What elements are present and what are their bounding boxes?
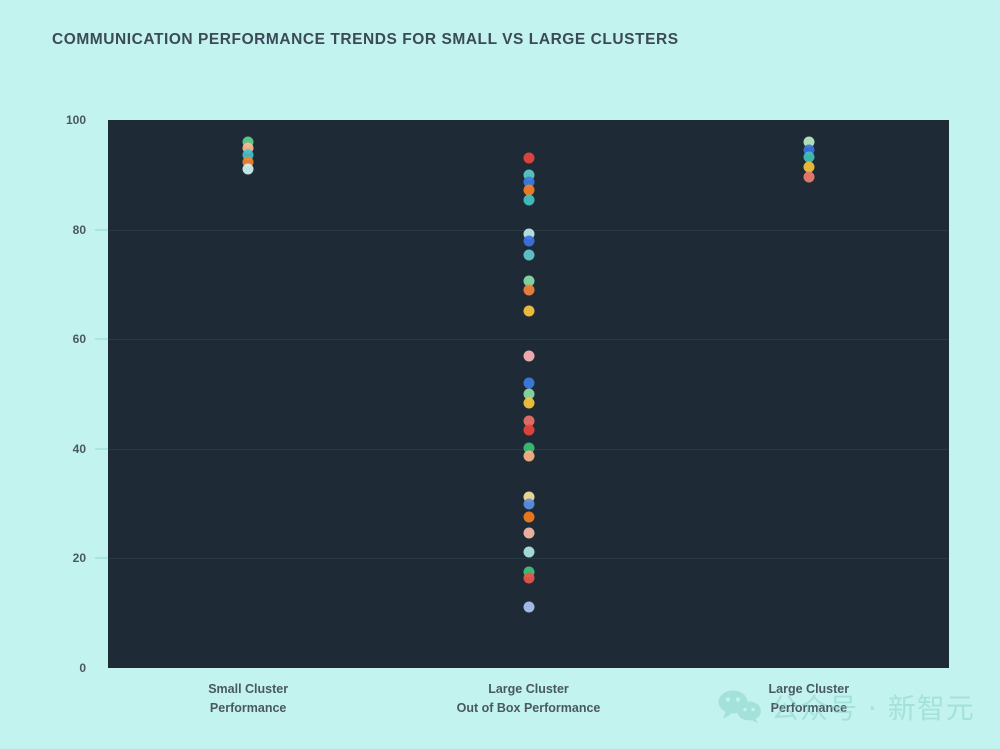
plot-area (108, 120, 949, 668)
y-axis-tick-label: 0 (79, 661, 86, 675)
y-axis-tick-label: 20 (73, 551, 86, 565)
y-axis-tick-mark (95, 339, 108, 340)
y-axis-tick-mark (95, 229, 108, 230)
y-axis-tick-label: 80 (73, 223, 86, 237)
y-axis-tick-label: 100 (66, 113, 86, 127)
data-point (523, 153, 534, 164)
y-axis: 020406080100 (0, 120, 108, 668)
gridline (108, 558, 949, 559)
x-axis-tick-label: Large ClusterOut of Box Performance (457, 680, 601, 717)
y-axis-tick-mark (95, 448, 108, 449)
x-axis: Small ClusterPerformanceLarge ClusterOut… (108, 680, 949, 730)
data-point (523, 350, 534, 361)
data-point (803, 171, 814, 182)
data-point (523, 397, 534, 408)
data-point (523, 511, 534, 522)
data-point (523, 425, 534, 436)
gridline (108, 339, 949, 340)
data-point (523, 573, 534, 584)
data-point (523, 498, 534, 509)
page-title: COMMUNICATION PERFORMANCE TRENDS FOR SMA… (52, 31, 679, 49)
data-point (523, 378, 534, 389)
y-axis-tick-mark (95, 558, 108, 559)
y-axis-tick-label: 60 (73, 332, 86, 346)
data-point (523, 546, 534, 557)
data-point (523, 451, 534, 462)
data-point (523, 601, 534, 612)
data-point (523, 195, 534, 206)
x-axis-tick-label: Large ClusterPerformance (769, 680, 850, 717)
y-axis-tick-label: 40 (73, 442, 86, 456)
scatter-chart: COMMUNICATION PERFORMANCE TRENDS FOR SMA… (0, 0, 1000, 749)
data-point (243, 164, 254, 175)
data-point (523, 235, 534, 246)
x-axis-tick-label: Small ClusterPerformance (208, 680, 288, 717)
data-point (523, 305, 534, 316)
data-point (523, 528, 534, 539)
data-point (523, 249, 534, 260)
data-point (523, 284, 534, 295)
